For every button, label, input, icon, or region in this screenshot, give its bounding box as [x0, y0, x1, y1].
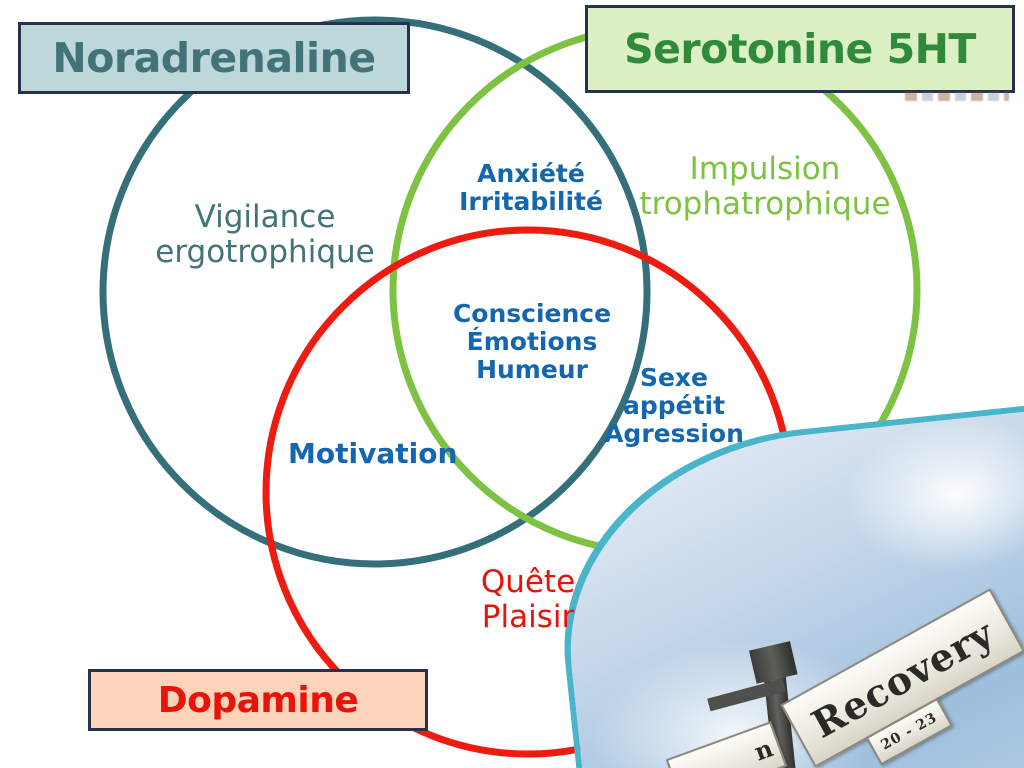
label-line: Impulsion [615, 152, 915, 187]
label-line: ergotrophique [135, 235, 395, 270]
label-line: Plaisir [420, 600, 636, 635]
region-label-nora-sero-overlap: Anxiété Irritabilité [438, 160, 624, 216]
title-box-serotonine[interactable]: Serotonine 5HT [585, 5, 1015, 93]
blurred-artifact [905, 92, 1009, 101]
label-line: Motivation [288, 438, 498, 469]
noradrenaline-circle [103, 20, 647, 564]
region-label-sero-dopa-overlap: Sexe appétit Agression [570, 364, 778, 448]
label-line: Conscience [428, 300, 636, 328]
label-line: appétit [570, 392, 778, 420]
label-line: Émotions [428, 328, 636, 356]
title-box-dopamine[interactable]: Dopamine [88, 669, 428, 731]
region-label-serotonine-only: Impulsion trophatrophique [615, 152, 915, 221]
region-label-noradrenaline-only: Vigilance ergotrophique [135, 200, 395, 269]
label-line: Quête [420, 565, 636, 600]
label-line: Agression [570, 420, 778, 448]
label-line: Anxiété [438, 160, 624, 188]
region-label-dopamine-only: Quête Plaisir [420, 565, 636, 634]
slide-canvas: n Recovery 20 - 23 Vigilance ergotrophiq… [0, 0, 1024, 768]
label-line: trophatrophique [615, 187, 915, 222]
label-line: Vigilance [135, 200, 395, 235]
region-label-nora-dopa-overlap: Motivation [288, 438, 498, 469]
title-box-noradrenaline[interactable]: Noradrenaline [18, 22, 410, 94]
label-line: Sexe [570, 364, 778, 392]
label-line: Irritabilité [438, 188, 624, 216]
